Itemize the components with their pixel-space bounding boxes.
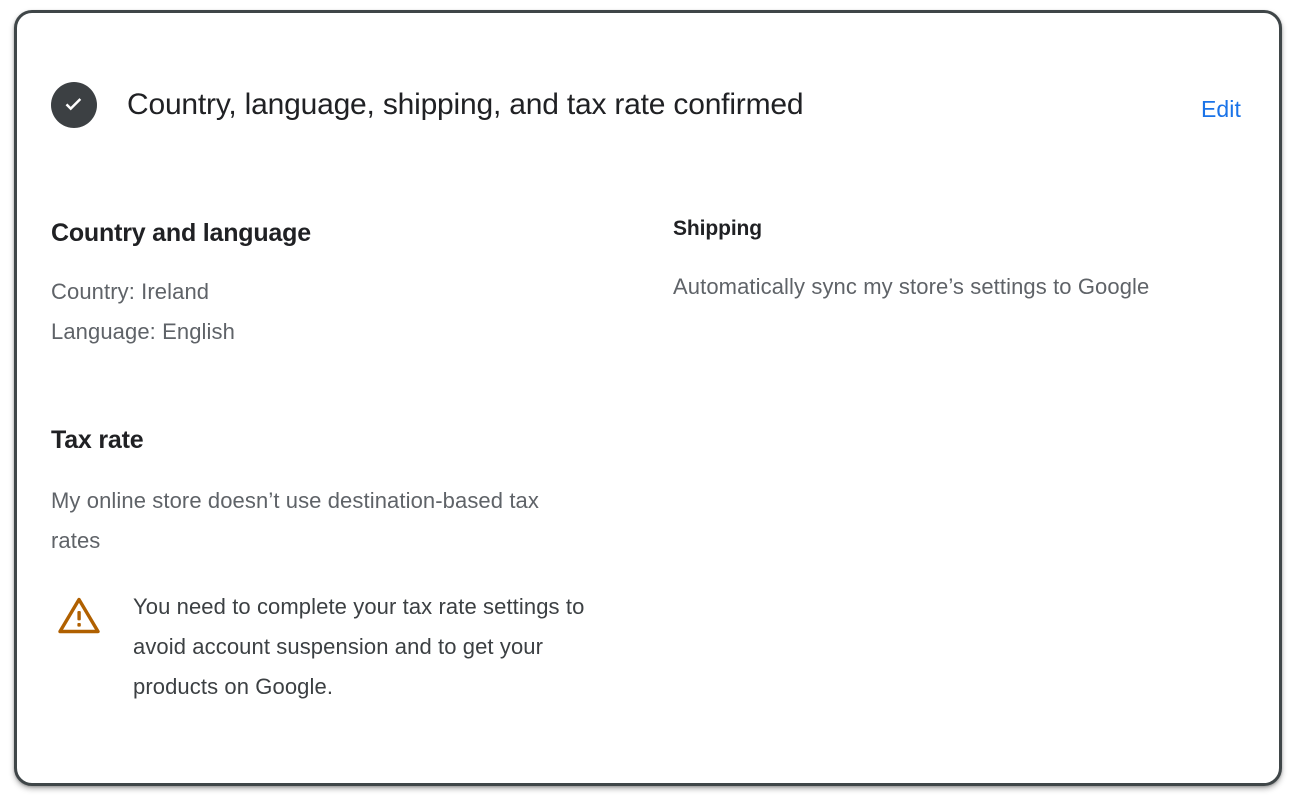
edit-link[interactable]: Edit bbox=[1201, 95, 1241, 123]
tax-rate-warning-text: You need to complete your tax rate setti… bbox=[133, 587, 627, 707]
screen-root: Country, language, shipping, and tax rat… bbox=[0, 0, 1296, 800]
tax-rate-heading: Tax rate bbox=[51, 424, 143, 456]
setup-summary-card: Country, language, shipping, and tax rat… bbox=[14, 10, 1282, 786]
country-value: Country: Ireland bbox=[51, 272, 611, 312]
card-header-left: Country, language, shipping, and tax rat… bbox=[17, 13, 803, 128]
card-body: Country and language Country: Ireland La… bbox=[17, 163, 1279, 783]
shipping-description: Automatically sync my store’s settings t… bbox=[673, 267, 1213, 307]
language-value: Language: English bbox=[51, 312, 611, 352]
tax-rate-description: My online store doesn’t use destination-… bbox=[51, 481, 581, 561]
warning-triangle-icon bbox=[57, 595, 101, 635]
page-title: Country, language, shipping, and tax rat… bbox=[127, 87, 803, 123]
country-and-language-values: Country: Ireland Language: English bbox=[51, 272, 611, 352]
country-and-language-heading: Country and language bbox=[51, 217, 311, 249]
shipping-heading: Shipping bbox=[673, 215, 762, 243]
tax-rate-warning: You need to complete your tax rate setti… bbox=[57, 587, 627, 707]
card-header: Country, language, shipping, and tax rat… bbox=[17, 13, 1279, 163]
check-circle-icon bbox=[51, 82, 97, 128]
